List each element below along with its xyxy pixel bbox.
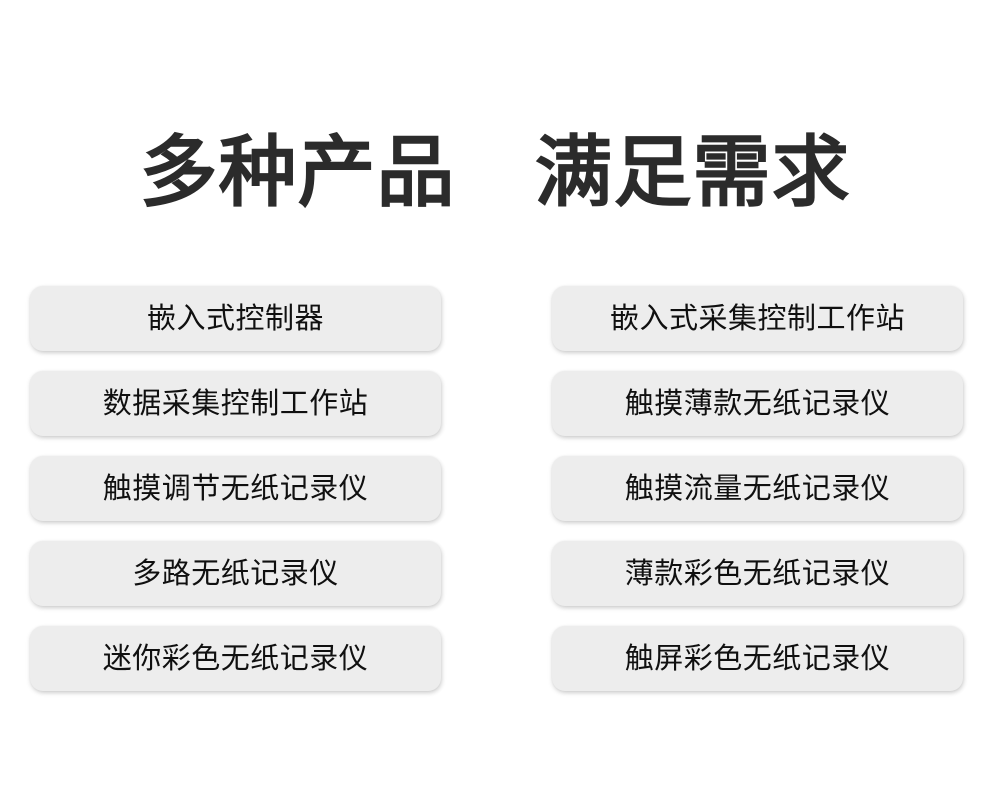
- product-pill-left-3[interactable]: 触摸调节无纸记录仪: [30, 456, 441, 521]
- product-pill-label: 触摸调节无纸记录仪: [103, 472, 369, 506]
- product-pill-right-5[interactable]: 触屏彩色无纸记录仪: [552, 626, 963, 691]
- page-title-container: 多种产品 满足需求: [0, 124, 990, 220]
- product-pill-label: 嵌入式控制器: [147, 302, 324, 336]
- product-column-left: 嵌入式控制器 数据采集控制工作站 触摸调节无纸记录仪 多路无纸记录仪 迷你彩色无…: [30, 286, 441, 691]
- page-title: 多种产品 满足需求: [139, 124, 850, 220]
- product-pill-right-3[interactable]: 触摸流量无纸记录仪: [552, 456, 963, 521]
- product-list-grid: 嵌入式控制器 数据采集控制工作站 触摸调节无纸记录仪 多路无纸记录仪 迷你彩色无…: [30, 286, 963, 691]
- product-column-right: 嵌入式采集控制工作站 触摸薄款无纸记录仪 触摸流量无纸记录仪 薄款彩色无纸记录仪…: [552, 286, 963, 691]
- product-pill-label: 迷你彩色无纸记录仪: [103, 642, 369, 676]
- product-pill-label: 数据采集控制工作站: [103, 387, 369, 421]
- product-pill-left-5[interactable]: 迷你彩色无纸记录仪: [30, 626, 441, 691]
- product-showcase-page: 多种产品 满足需求 嵌入式控制器 数据采集控制工作站 触摸调节无纸记录仪 多路无…: [0, 0, 990, 793]
- product-pill-label: 嵌入式采集控制工作站: [610, 302, 905, 336]
- product-pill-label: 触摸流量无纸记录仪: [625, 472, 891, 506]
- product-pill-left-4[interactable]: 多路无纸记录仪: [30, 541, 441, 606]
- product-pill-right-1[interactable]: 嵌入式采集控制工作站: [552, 286, 963, 351]
- product-pill-right-2[interactable]: 触摸薄款无纸记录仪: [552, 371, 963, 436]
- product-pill-label: 多路无纸记录仪: [132, 557, 339, 591]
- product-pill-left-2[interactable]: 数据采集控制工作站: [30, 371, 441, 436]
- product-pill-label: 触屏彩色无纸记录仪: [625, 642, 891, 676]
- product-pill-label: 触摸薄款无纸记录仪: [625, 387, 891, 421]
- product-pill-left-1[interactable]: 嵌入式控制器: [30, 286, 441, 351]
- product-pill-right-4[interactable]: 薄款彩色无纸记录仪: [552, 541, 963, 606]
- product-pill-label: 薄款彩色无纸记录仪: [625, 557, 891, 591]
